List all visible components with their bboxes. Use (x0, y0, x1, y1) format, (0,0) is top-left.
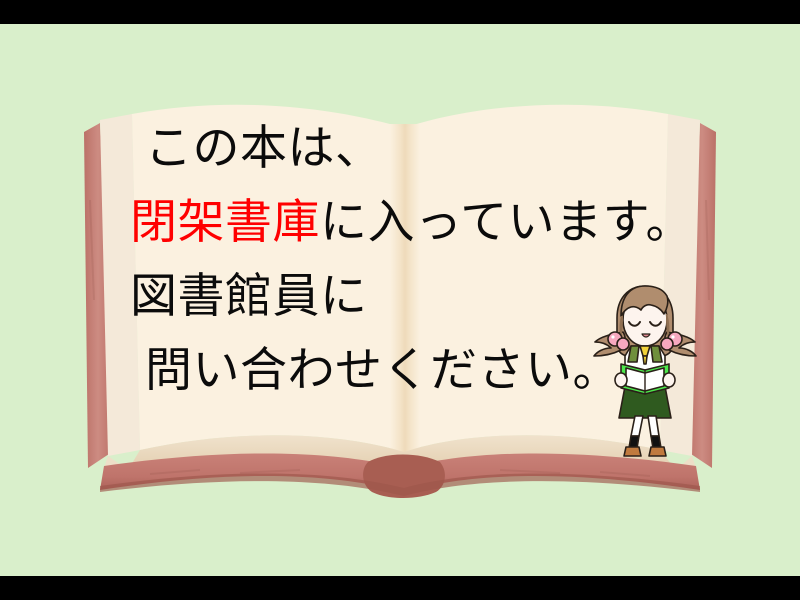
girl-illustration-svg (593, 276, 697, 460)
book-pages (132, 105, 668, 452)
shoes (624, 447, 666, 456)
girl-reading-character (593, 276, 697, 460)
legs (631, 416, 659, 436)
letterbox-bar-bottom (0, 576, 800, 600)
screenshot-canvas: この本は、 閉架書庫に入っています。 図書館員に 問い合わせください。 (0, 0, 800, 600)
book-bottom-cover (100, 453, 700, 498)
mouth (642, 334, 650, 337)
letterbox-bar-top (0, 0, 800, 24)
